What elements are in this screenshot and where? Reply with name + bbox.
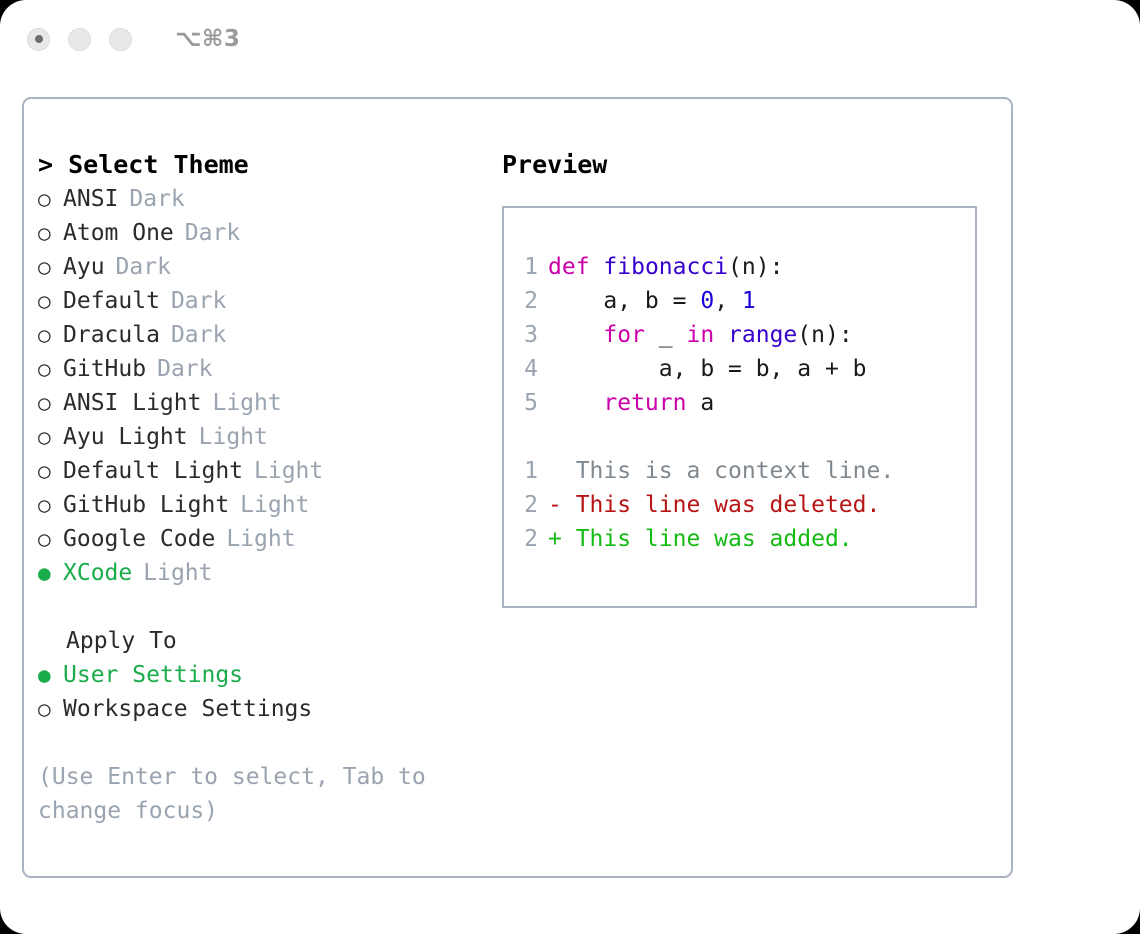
traffic-light-icon-2[interactable] bbox=[68, 28, 91, 51]
theme-option-label: Atom One bbox=[63, 216, 174, 250]
theme-variant-badge: Dark bbox=[171, 318, 226, 352]
theme-option-label: Default bbox=[63, 284, 160, 318]
theme-option-label: ANSI bbox=[63, 182, 118, 216]
radio-unselected-icon[interactable]: ○ bbox=[38, 352, 63, 386]
apply-to-option-row[interactable]: ●User Settings bbox=[38, 658, 498, 692]
theme-option-list[interactable]: ○ANSIDark○Atom OneDark○AyuDark○DefaultDa… bbox=[38, 182, 498, 590]
diff-line-content: - This line was deleted. bbox=[548, 492, 880, 518]
line-number: 2 bbox=[508, 488, 538, 522]
theme-variant-badge: Dark bbox=[185, 216, 240, 250]
radio-unselected-icon[interactable]: ○ bbox=[38, 318, 63, 352]
theme-option-row[interactable]: ○Google CodeLight bbox=[38, 522, 498, 556]
line-number: 3 bbox=[508, 318, 538, 352]
radio-selected-icon[interactable]: ● bbox=[38, 556, 63, 590]
theme-option-row[interactable]: ○ANSI LightLight bbox=[38, 386, 498, 420]
theme-option-row[interactable]: ○ANSIDark bbox=[38, 182, 498, 216]
diff-line: 1 This is a context line. bbox=[508, 454, 894, 488]
theme-option-row[interactable]: ○Default LightLight bbox=[38, 454, 498, 488]
code-token: return bbox=[603, 390, 686, 416]
code-token: + This line was added. bbox=[548, 526, 853, 552]
line-number: 2 bbox=[508, 284, 538, 318]
code-line-content: for _ in range(n): bbox=[548, 322, 853, 348]
code-token: fibonacci bbox=[603, 254, 728, 280]
preview-box: 1def fibonacci(n):2 a, b = 0, 13 for _ i… bbox=[502, 206, 977, 608]
theme-selector-panel: > Select Theme ○ANSIDark○Atom OneDark○Ay… bbox=[22, 97, 1013, 878]
code-token bbox=[590, 254, 604, 280]
diff-line-content: This is a context line. bbox=[548, 458, 894, 484]
select-theme-heading: > Select Theme bbox=[38, 148, 498, 182]
theme-option-label: GitHub bbox=[63, 352, 146, 386]
diff-line-content: + This line was added. bbox=[548, 526, 853, 552]
theme-option-label: Dracula bbox=[63, 318, 160, 352]
apply-to-option-label: User Settings bbox=[63, 658, 243, 692]
theme-option-row[interactable]: ●XCodeLight bbox=[38, 556, 498, 590]
radio-unselected-icon[interactable]: ○ bbox=[38, 216, 63, 250]
code-line: 4 a, b = b, a + b bbox=[508, 352, 894, 386]
code-line: 5 return a bbox=[508, 386, 894, 420]
code-preview: 1def fibonacci(n):2 a, b = 0, 13 for _ i… bbox=[508, 250, 894, 556]
code-token bbox=[548, 390, 603, 416]
theme-option-label: ANSI Light bbox=[63, 386, 201, 420]
traffic-light-icon-3[interactable] bbox=[109, 28, 132, 51]
line-number: 5 bbox=[508, 386, 538, 420]
app-window: ⌥⌘3 > Select Theme ○ANSIDark○Atom OneDar… bbox=[0, 0, 1140, 934]
line-number: 1 bbox=[508, 454, 538, 488]
preview-column: Preview 1def fibonacci(n):2 a, b = 0, 13… bbox=[502, 148, 1002, 608]
code-token bbox=[714, 322, 728, 348]
radio-unselected-icon[interactable]: ○ bbox=[38, 420, 63, 454]
theme-list-column: > Select Theme ○ANSIDark○Atom OneDark○Ay… bbox=[38, 148, 498, 828]
radio-unselected-icon[interactable]: ○ bbox=[38, 692, 63, 726]
code-token: in bbox=[686, 322, 714, 348]
diff-line: 2- This line was deleted. bbox=[508, 488, 894, 522]
theme-option-row[interactable]: ○GitHubDark bbox=[38, 352, 498, 386]
code-diff-separator bbox=[508, 420, 894, 454]
code-token bbox=[548, 322, 603, 348]
code-token: for bbox=[603, 322, 645, 348]
radio-unselected-icon[interactable]: ○ bbox=[38, 182, 63, 216]
theme-variant-badge: Dark bbox=[157, 352, 212, 386]
code-token: a, b = bbox=[548, 288, 700, 314]
radio-unselected-icon[interactable]: ○ bbox=[38, 250, 63, 284]
preview-heading: Preview bbox=[502, 148, 1002, 182]
code-token: (n): bbox=[728, 254, 783, 280]
theme-variant-badge: Dark bbox=[116, 250, 171, 284]
radio-unselected-icon[interactable]: ○ bbox=[38, 284, 63, 318]
code-token: def bbox=[548, 254, 590, 280]
theme-variant-badge: Light bbox=[254, 454, 323, 488]
code-token: 0 bbox=[700, 288, 714, 314]
theme-variant-badge: Light bbox=[143, 556, 212, 590]
theme-variant-badge: Light bbox=[199, 420, 268, 454]
diff-line: 2+ This line was added. bbox=[508, 522, 894, 556]
code-token: range bbox=[728, 322, 797, 348]
radio-unselected-icon[interactable]: ○ bbox=[38, 522, 63, 556]
theme-option-label: Ayu bbox=[63, 250, 105, 284]
theme-option-label: GitHub Light bbox=[63, 488, 229, 522]
code-token: - This line was deleted. bbox=[548, 492, 880, 518]
code-line-content: return a bbox=[548, 390, 714, 416]
apply-to-option-label: Workspace Settings bbox=[63, 692, 312, 726]
code-token: , bbox=[714, 288, 742, 314]
theme-option-label: XCode bbox=[63, 556, 132, 590]
traffic-light-icon-1[interactable] bbox=[27, 28, 50, 51]
theme-option-row[interactable]: ○Ayu LightLight bbox=[38, 420, 498, 454]
code-line: 3 for _ in range(n): bbox=[508, 318, 894, 352]
radio-unselected-icon[interactable]: ○ bbox=[38, 386, 63, 420]
radio-unselected-icon[interactable]: ○ bbox=[38, 454, 63, 488]
code-line: 2 a, b = 0, 1 bbox=[508, 284, 894, 318]
theme-variant-badge: Dark bbox=[171, 284, 226, 318]
apply-to-option-row[interactable]: ○Workspace Settings bbox=[38, 692, 498, 726]
theme-variant-badge: Dark bbox=[129, 182, 184, 216]
code-line-content: a, b = b, a + b bbox=[548, 356, 867, 382]
active-indicator-dot bbox=[35, 35, 43, 43]
line-number: 4 bbox=[508, 352, 538, 386]
window-titlebar: ⌥⌘3 bbox=[0, 0, 1140, 78]
radio-selected-icon[interactable]: ● bbox=[38, 658, 63, 692]
theme-option-label: Ayu Light bbox=[63, 420, 188, 454]
theme-option-row[interactable]: ○GitHub LightLight bbox=[38, 488, 498, 522]
apply-to-option-list[interactable]: ●User Settings○Workspace Settings bbox=[38, 658, 498, 726]
keyboard-shortcut-label: ⌥⌘3 bbox=[175, 28, 240, 51]
line-number: 1 bbox=[508, 250, 538, 284]
code-token: This is a context line. bbox=[548, 458, 894, 484]
code-token: _ bbox=[645, 322, 687, 348]
code-token: (n): bbox=[797, 322, 852, 348]
theme-option-row[interactable]: ○DefaultDark bbox=[38, 284, 498, 318]
keyboard-hint-text: (Use Enter to select, Tab to change focu… bbox=[38, 760, 438, 828]
theme-option-row[interactable]: ○Atom OneDark bbox=[38, 216, 498, 250]
theme-variant-badge: Light bbox=[240, 488, 309, 522]
line-number: 2 bbox=[508, 522, 538, 556]
theme-option-row[interactable]: ○AyuDark bbox=[38, 250, 498, 284]
theme-variant-badge: Light bbox=[212, 386, 281, 420]
theme-variant-badge: Light bbox=[226, 522, 295, 556]
theme-option-label: Default Light bbox=[63, 454, 243, 488]
code-line-content: def fibonacci(n): bbox=[548, 254, 783, 280]
window-controls bbox=[27, 28, 132, 51]
theme-option-row[interactable]: ○DraculaDark bbox=[38, 318, 498, 352]
code-line-content: a, b = 0, 1 bbox=[548, 288, 756, 314]
code-token: a bbox=[686, 390, 714, 416]
code-token: a, b = b, a + b bbox=[548, 356, 867, 382]
radio-unselected-icon[interactable]: ○ bbox=[38, 488, 63, 522]
theme-option-label: Google Code bbox=[63, 522, 215, 556]
code-line: 1def fibonacci(n): bbox=[508, 250, 894, 284]
code-token: 1 bbox=[742, 288, 756, 314]
apply-to-heading: Apply To bbox=[38, 624, 498, 658]
